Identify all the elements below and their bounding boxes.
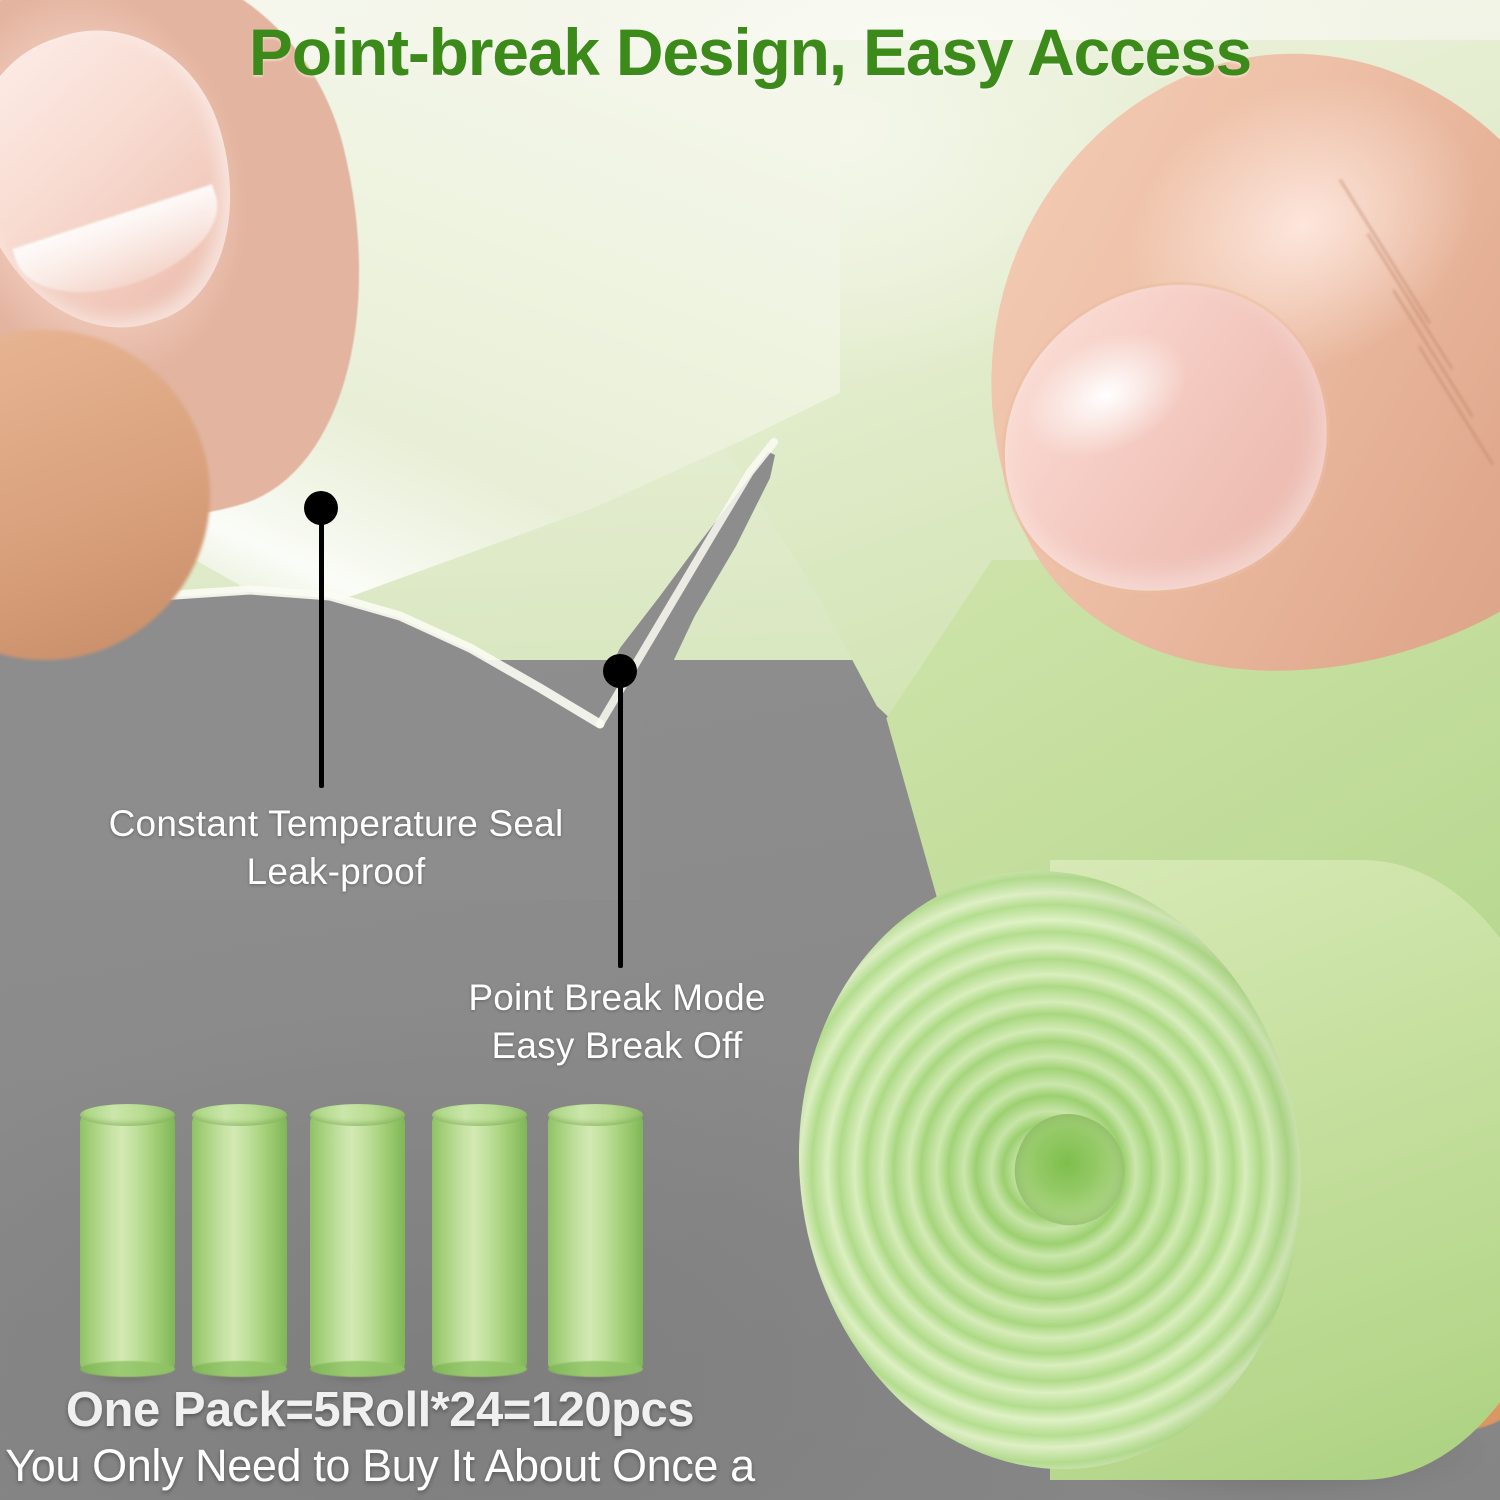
large-bag-roll — [800, 860, 1500, 1500]
callout-seal-line2: Leak-proof — [36, 848, 636, 896]
callout-leader-line-seal — [319, 518, 324, 788]
callout-label-seal: Constant Temperature Seal Leak-proof — [36, 800, 636, 896]
purchase-frequency-label: You Only Need to Buy It About Once a Mon… — [0, 1440, 760, 1500]
mini-roll — [432, 1113, 527, 1371]
callout-break-line2: Easy Break Off — [367, 1022, 867, 1070]
mini-roll-group — [80, 1095, 680, 1380]
product-infographic: Constant Temperature Seal Leak-proof Poi… — [0, 0, 1500, 1500]
page-title: Point-break Design, Easy Access — [0, 14, 1500, 90]
callout-seal-line1: Constant Temperature Seal — [36, 800, 636, 848]
mini-roll — [310, 1113, 405, 1371]
callout-dot-break — [603, 654, 637, 688]
callout-label-break: Point Break Mode Easy Break Off — [367, 974, 867, 1070]
pack-quantity-label: One Pack=5Roll*24=120pcs — [0, 1382, 760, 1438]
callout-dot-seal — [304, 491, 338, 525]
callout-break-line1: Point Break Mode — [367, 974, 867, 1022]
callout-leader-line-break — [618, 682, 623, 968]
mini-roll — [548, 1113, 643, 1371]
mini-roll — [192, 1113, 287, 1371]
mini-roll — [80, 1113, 175, 1371]
